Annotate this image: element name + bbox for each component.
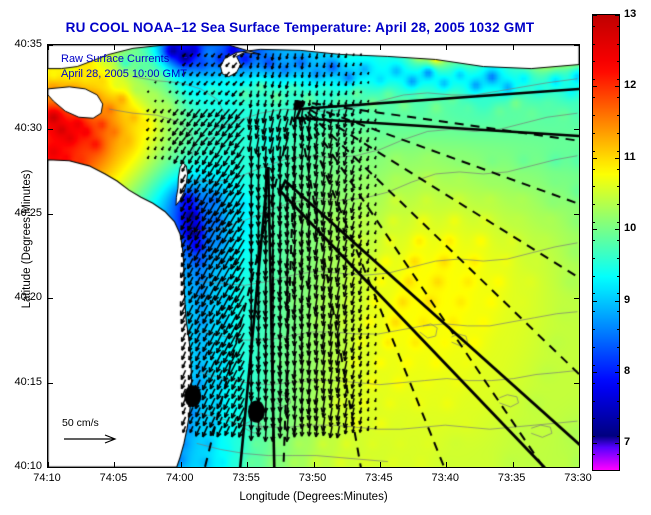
colorbar-minor-tick bbox=[593, 240, 595, 241]
y-axis-tick bbox=[48, 298, 53, 299]
colorbar-minor-tick bbox=[593, 133, 595, 134]
x-axis-tick bbox=[579, 45, 580, 50]
colorbar-minor-tick bbox=[617, 276, 619, 277]
x-axis-tick bbox=[114, 45, 115, 50]
colorbar-tick bbox=[593, 86, 597, 87]
x-axis-tick bbox=[513, 462, 514, 467]
sst-map-raster bbox=[48, 45, 579, 467]
x-axis-tick-label: 74:05 bbox=[100, 472, 128, 484]
colorbar-minor-tick bbox=[593, 311, 595, 312]
colorbar-tick bbox=[593, 15, 597, 16]
colorbar-tick bbox=[615, 443, 619, 444]
colorbar-tick bbox=[615, 86, 619, 87]
colorbar-minor-tick bbox=[593, 44, 595, 45]
colorbar-minor-tick bbox=[617, 115, 619, 116]
colorbar-gradient bbox=[593, 15, 619, 470]
x-axis-tick-label: 74:00 bbox=[166, 472, 194, 484]
x-axis-tick-label: 73:40 bbox=[431, 472, 459, 484]
colorbar-minor-tick bbox=[617, 454, 619, 455]
colorbar-tick bbox=[615, 229, 619, 230]
colorbar-minor-tick bbox=[617, 186, 619, 187]
colorbar-minor-tick bbox=[617, 418, 619, 419]
colorbar-tick bbox=[615, 158, 619, 159]
colorbar-minor-tick bbox=[593, 383, 595, 384]
x-axis-tick bbox=[247, 462, 248, 467]
figure-canvas: RU COOL NOAA–12 Sea Surface Temperature:… bbox=[0, 0, 651, 515]
colorbar-tick-label: 9 bbox=[624, 294, 630, 306]
current-annotation: Raw Surface Currents April 28, 2005 10:0… bbox=[61, 52, 187, 82]
x-axis-tick bbox=[314, 462, 315, 467]
right-arrow-icon bbox=[62, 433, 124, 445]
x-axis-tick bbox=[114, 462, 115, 467]
colorbar-minor-tick bbox=[617, 133, 619, 134]
colorbar-minor-tick bbox=[593, 276, 595, 277]
y-axis-tick bbox=[48, 467, 53, 468]
colorbar-minor-tick bbox=[617, 258, 619, 259]
colorbar-minor-tick bbox=[593, 365, 595, 366]
annotation-line-1: Raw Surface Currents bbox=[61, 52, 187, 67]
x-axis-tick-label: 73:45 bbox=[365, 472, 393, 484]
colorbar-minor-tick bbox=[617, 347, 619, 348]
colorbar-minor-tick bbox=[617, 97, 619, 98]
y-axis-tick-label: 40:25 bbox=[2, 207, 42, 219]
x-axis-tick-label: 73:55 bbox=[232, 472, 260, 484]
x-axis-title: Longitude (Degrees:Minutes) bbox=[47, 491, 580, 503]
y-axis-tick bbox=[574, 214, 579, 215]
x-axis-tick bbox=[513, 45, 514, 50]
scale-legend-label: 50 cm/s bbox=[62, 417, 124, 429]
y-axis-tick-label: 40:15 bbox=[2, 376, 42, 388]
colorbar-minor-tick bbox=[593, 401, 595, 402]
y-axis-tick bbox=[48, 129, 53, 130]
y-axis-tick bbox=[574, 383, 579, 384]
colorbar-minor-tick bbox=[617, 365, 619, 366]
y-axis-tick bbox=[574, 298, 579, 299]
y-axis-tick bbox=[48, 45, 53, 46]
colorbar-minor-tick bbox=[593, 97, 595, 98]
colorbar-minor-tick bbox=[593, 186, 595, 187]
colorbar-tick bbox=[615, 372, 619, 373]
colorbar-minor-tick bbox=[617, 329, 619, 330]
y-axis-tick bbox=[48, 214, 53, 215]
colorbar-minor-tick bbox=[617, 169, 619, 170]
y-axis-tick-label: 40:10 bbox=[2, 460, 42, 472]
velocity-scale-legend: 50 cm/s bbox=[62, 417, 124, 445]
y-axis-tick bbox=[574, 129, 579, 130]
colorbar-tick-label: 13 bbox=[624, 8, 636, 20]
colorbar-tick bbox=[593, 229, 597, 230]
colorbar-minor-tick bbox=[617, 401, 619, 402]
colorbar-minor-tick bbox=[617, 222, 619, 223]
x-axis-tick bbox=[181, 45, 182, 50]
x-axis-tick bbox=[247, 45, 248, 50]
x-axis-tick bbox=[380, 462, 381, 467]
colorbar-minor-tick bbox=[593, 222, 595, 223]
colorbar-minor-tick bbox=[593, 258, 595, 259]
colorbar-minor-tick bbox=[617, 61, 619, 62]
colorbar-minor-tick bbox=[593, 436, 595, 437]
colorbar-tick-label: 11 bbox=[624, 151, 636, 163]
colorbar-minor-tick bbox=[617, 311, 619, 312]
colorbar-minor-tick bbox=[593, 454, 595, 455]
colorbar-tick bbox=[615, 301, 619, 302]
annotation-line-2: April 28, 2005 10:00 GMT bbox=[61, 67, 187, 82]
colorbar-tick bbox=[593, 301, 597, 302]
x-axis-tick bbox=[446, 45, 447, 50]
figure-title: RU COOL NOAA–12 Sea Surface Temperature:… bbox=[0, 20, 600, 35]
y-axis-tick-label: 40:30 bbox=[2, 122, 42, 134]
colorbar-minor-tick bbox=[593, 418, 595, 419]
colorbar-minor-tick bbox=[593, 79, 595, 80]
colorbar-tick-label: 8 bbox=[624, 365, 630, 377]
y-axis-tick bbox=[574, 45, 579, 46]
colorbar-minor-tick bbox=[617, 293, 619, 294]
y-axis-tick bbox=[574, 467, 579, 468]
x-axis-tick-label: 73:30 bbox=[564, 472, 592, 484]
colorbar-minor-tick bbox=[617, 383, 619, 384]
y-axis-title: Latitude (Degrees:Minutes) bbox=[21, 129, 33, 349]
x-axis-tick-label: 73:50 bbox=[299, 472, 327, 484]
colorbar-minor-tick bbox=[593, 293, 595, 294]
colorbar-minor-tick bbox=[617, 79, 619, 80]
colorbar-minor-tick bbox=[593, 169, 595, 170]
y-axis-tick bbox=[48, 383, 53, 384]
colorbar-tick bbox=[615, 15, 619, 16]
colorbar-tick-label: 7 bbox=[624, 436, 630, 448]
colorbar-minor-tick bbox=[617, 204, 619, 205]
x-axis-tick bbox=[314, 45, 315, 50]
colorbar[interactable] bbox=[592, 14, 620, 471]
colorbar-minor-tick bbox=[593, 26, 595, 27]
colorbar-minor-tick bbox=[593, 115, 595, 116]
colorbar-tick-label: 10 bbox=[624, 222, 636, 234]
y-axis-tick-label: 40:20 bbox=[2, 291, 42, 303]
x-axis-tick-label: 73:35 bbox=[498, 472, 526, 484]
colorbar-minor-tick bbox=[617, 26, 619, 27]
x-axis-tick bbox=[380, 45, 381, 50]
colorbar-tick-label: 12 bbox=[624, 79, 636, 91]
colorbar-minor-tick bbox=[593, 61, 595, 62]
colorbar-minor-tick bbox=[593, 329, 595, 330]
colorbar-minor-tick bbox=[593, 347, 595, 348]
y-axis-tick-label: 40:35 bbox=[2, 38, 42, 50]
x-axis-tick bbox=[181, 462, 182, 467]
colorbar-minor-tick bbox=[617, 240, 619, 241]
colorbar-tick bbox=[593, 158, 597, 159]
colorbar-minor-tick bbox=[617, 151, 619, 152]
map-axes[interactable]: Raw Surface Currents April 28, 2005 10:0… bbox=[47, 44, 580, 468]
colorbar-minor-tick bbox=[617, 44, 619, 45]
colorbar-minor-tick bbox=[617, 436, 619, 437]
colorbar-tick bbox=[593, 372, 597, 373]
colorbar-tick bbox=[593, 443, 597, 444]
x-axis-tick-label: 74:10 bbox=[33, 472, 61, 484]
colorbar-minor-tick bbox=[593, 204, 595, 205]
x-axis-tick bbox=[446, 462, 447, 467]
colorbar-minor-tick bbox=[593, 151, 595, 152]
x-axis-tick bbox=[579, 462, 580, 467]
